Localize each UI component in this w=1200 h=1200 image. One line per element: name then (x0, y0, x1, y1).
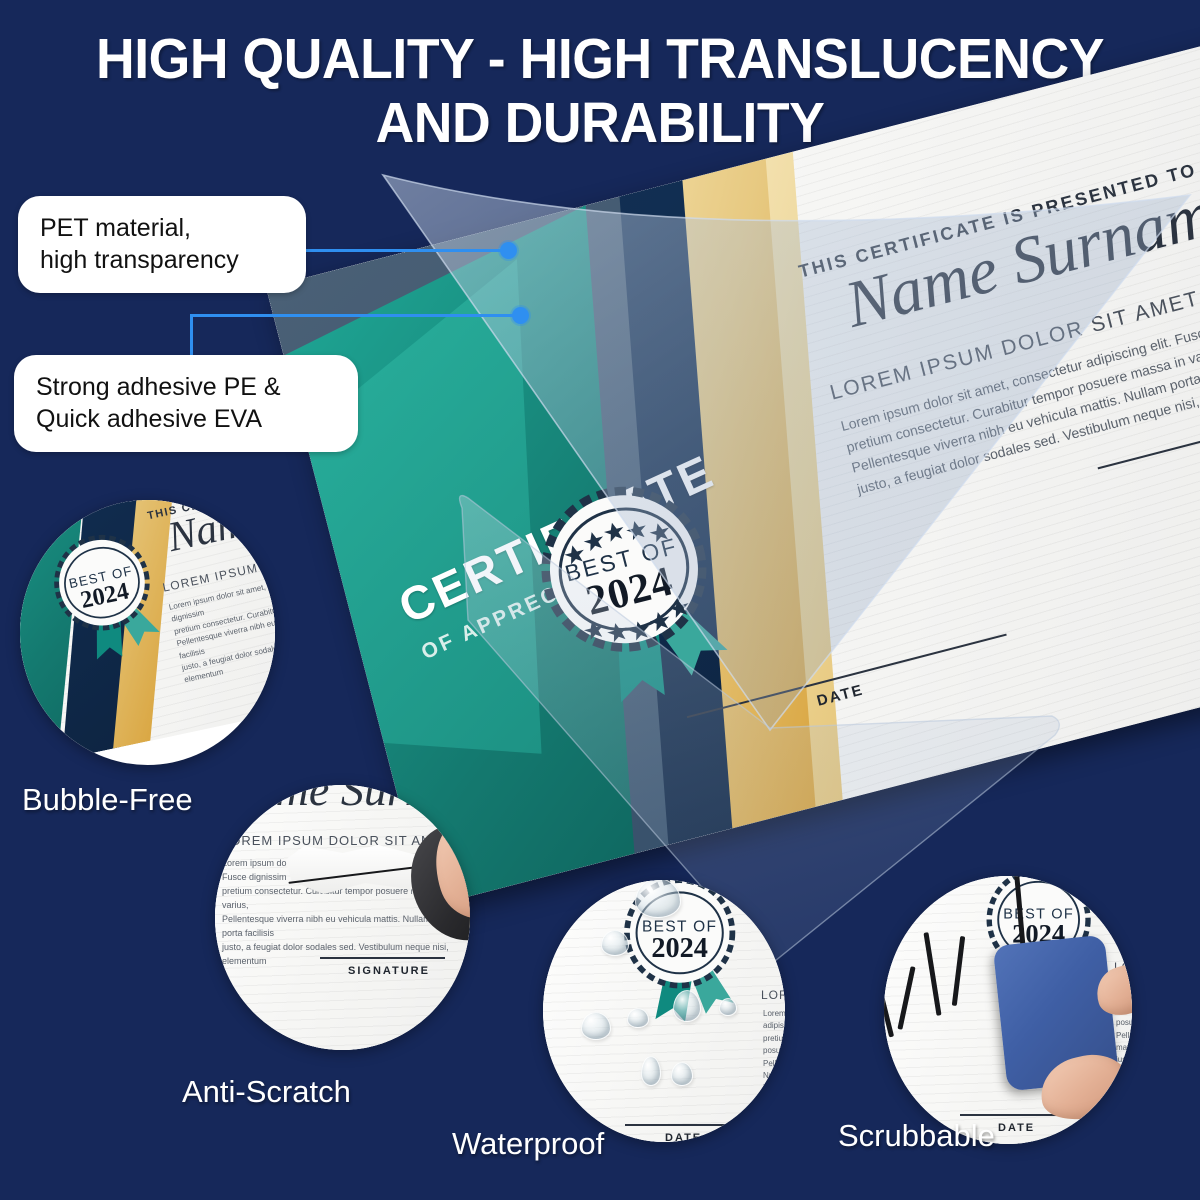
certificate-thumb-scrubbable: LOREM IPSUM DOLOR SIT AMET , CONSECTETUR… (884, 876, 1132, 1144)
feature-label-waterproof: Waterproof (452, 1126, 604, 1162)
thumb3-date-label: DATE (665, 1132, 702, 1142)
feature-circle-scrubbable[interactable]: LOREM IPSUM DOLOR SIT AMET , CONSECTETUR… (884, 876, 1132, 1144)
thumb3-lorem-heading: LOREM IPSUM DOLOR SIT AMET , CONSECTETUR (761, 988, 785, 1002)
callout-pet-line-2: high transparency (40, 244, 284, 276)
callout-adhesive-line-2: Quick adhesive EVA (36, 403, 336, 435)
feature-circle-waterproof[interactable]: LOREM IPSUM DOLOR SIT AMET , CONSECTETUR… (543, 880, 785, 1142)
main-certificate: CERTIFICATE OF APPRECIATION THIS CERTIFI… (266, 32, 1200, 907)
svg-text:2024: 2024 (651, 933, 708, 964)
feature-label-scrubbable: Scrubbable (838, 1118, 995, 1154)
certificate-thumb-anti-scratch: THIS CERTIFICATE IS PRESENTED TO Name Su… (215, 785, 470, 1050)
callout-pet-material[interactable]: PET material, high transparency (18, 196, 306, 293)
thumb3-date-rule (625, 1124, 751, 1126)
water-droplet (719, 998, 737, 1016)
thumb3-body: Lorem ipsum dolor sit amet, consectetur … (763, 1008, 785, 1107)
water-droplet (627, 1008, 649, 1028)
water-droplet (641, 1056, 661, 1086)
feature-circle-bubble-free[interactable]: CERTIFICATE OF APPRECIATION THIS CERTIFI… (20, 500, 275, 765)
thumb2-signature-label: SIGNATURE (348, 965, 430, 977)
water-droplet (635, 880, 681, 918)
infographic-stage: HIGH QUALITY - HIGH TRANSLUCENCY AND DUR… (0, 0, 1200, 1200)
water-droplet (581, 1012, 611, 1040)
hotspot-dot-adhesive[interactable] (512, 307, 529, 324)
feature-label-bubble-free: Bubble-Free (22, 782, 193, 818)
thumb4-date-label: DATE (998, 1122, 1035, 1134)
thumb2-recipient-name: Name Surname (222, 785, 470, 816)
feature-label-anti-scratch: Anti-Scratch (182, 1074, 351, 1110)
water-droplet (601, 930, 629, 956)
water-droplet (673, 990, 701, 1022)
thumb2-signature-rule (320, 957, 445, 959)
water-droplet (671, 1062, 693, 1086)
callout-pet-line-1: PET material, (40, 212, 284, 244)
certificate-thumb-bubble-free: CERTIFICATE OF APPRECIATION THIS CERTIFI… (20, 500, 275, 765)
callout-adhesive-line-1: Strong adhesive PE & (36, 371, 336, 403)
hotspot-dot-pet[interactable] (500, 242, 517, 259)
feature-circle-anti-scratch[interactable]: THIS CERTIFICATE IS PRESENTED TO Name Su… (215, 785, 470, 1050)
certificate-thumb-waterproof: LOREM IPSUM DOLOR SIT AMET , CONSECTETUR… (543, 880, 785, 1142)
callout-adhesive[interactable]: Strong adhesive PE & Quick adhesive EVA (14, 355, 358, 452)
